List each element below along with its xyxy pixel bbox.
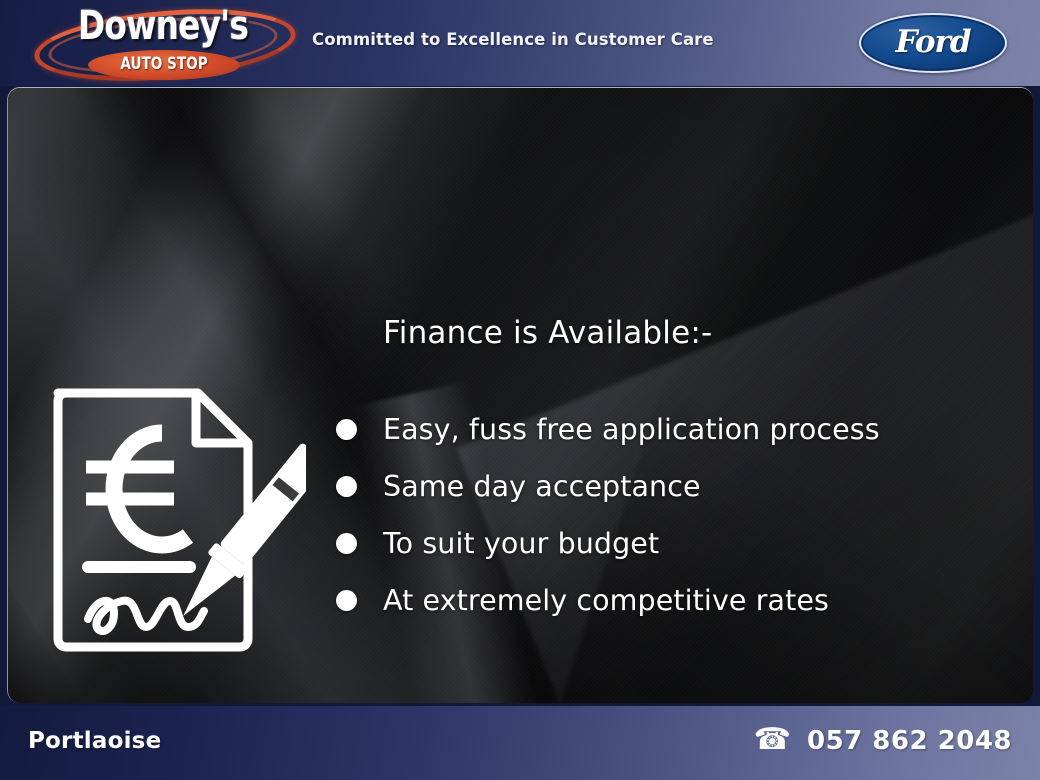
bullet-dot-icon <box>336 419 357 440</box>
bullet-dot-icon <box>336 590 357 611</box>
page-title: Finance is Available:- <box>383 315 712 351</box>
list-item: At extremely competitive rates <box>336 572 996 629</box>
header-bar: Downey's AUTO STOP Committed to Excellen… <box>0 0 1040 86</box>
logo-brand-name: Downey's <box>44 6 282 46</box>
list-item-label: At extremely competitive rates <box>383 584 829 617</box>
contact-block[interactable]: ☎ 057 862 2048 <box>754 726 1012 756</box>
euro-document-signature-icon <box>44 371 306 661</box>
list-item: Same day acceptance <box>336 458 996 515</box>
ford-logo[interactable]: Ford <box>859 13 1007 73</box>
main-panel: Finance is Available:- Easy, fuss free a… <box>7 87 1033 703</box>
list-item-label: Same day acceptance <box>383 470 701 503</box>
bullet-dot-icon <box>336 476 357 497</box>
bullet-dot-icon <box>336 533 357 554</box>
location-label: Portlaoise <box>28 728 161 754</box>
header-tagline: Committed to Excellence in Customer Care <box>312 30 714 49</box>
list-item: Easy, fuss free application process <box>336 401 996 458</box>
benefits-list: Easy, fuss free application process Same… <box>336 401 996 629</box>
dealer-logo[interactable]: Downey's AUTO STOP <box>18 2 308 84</box>
phone-number[interactable]: 057 862 2048 <box>807 726 1012 756</box>
list-item: To suit your budget <box>336 515 996 572</box>
logo-brand-sub: AUTO STOP <box>103 55 225 74</box>
ford-wordmark: Ford <box>859 13 1007 73</box>
footer-bar: Portlaoise ☎ 057 862 2048 <box>0 706 1040 780</box>
list-item-label: Easy, fuss free application process <box>383 413 880 446</box>
telephone-icon: ☎ <box>754 725 791 755</box>
advert-slide: Downey's AUTO STOP Committed to Excellen… <box>0 0 1040 780</box>
list-item-label: To suit your budget <box>383 527 659 560</box>
